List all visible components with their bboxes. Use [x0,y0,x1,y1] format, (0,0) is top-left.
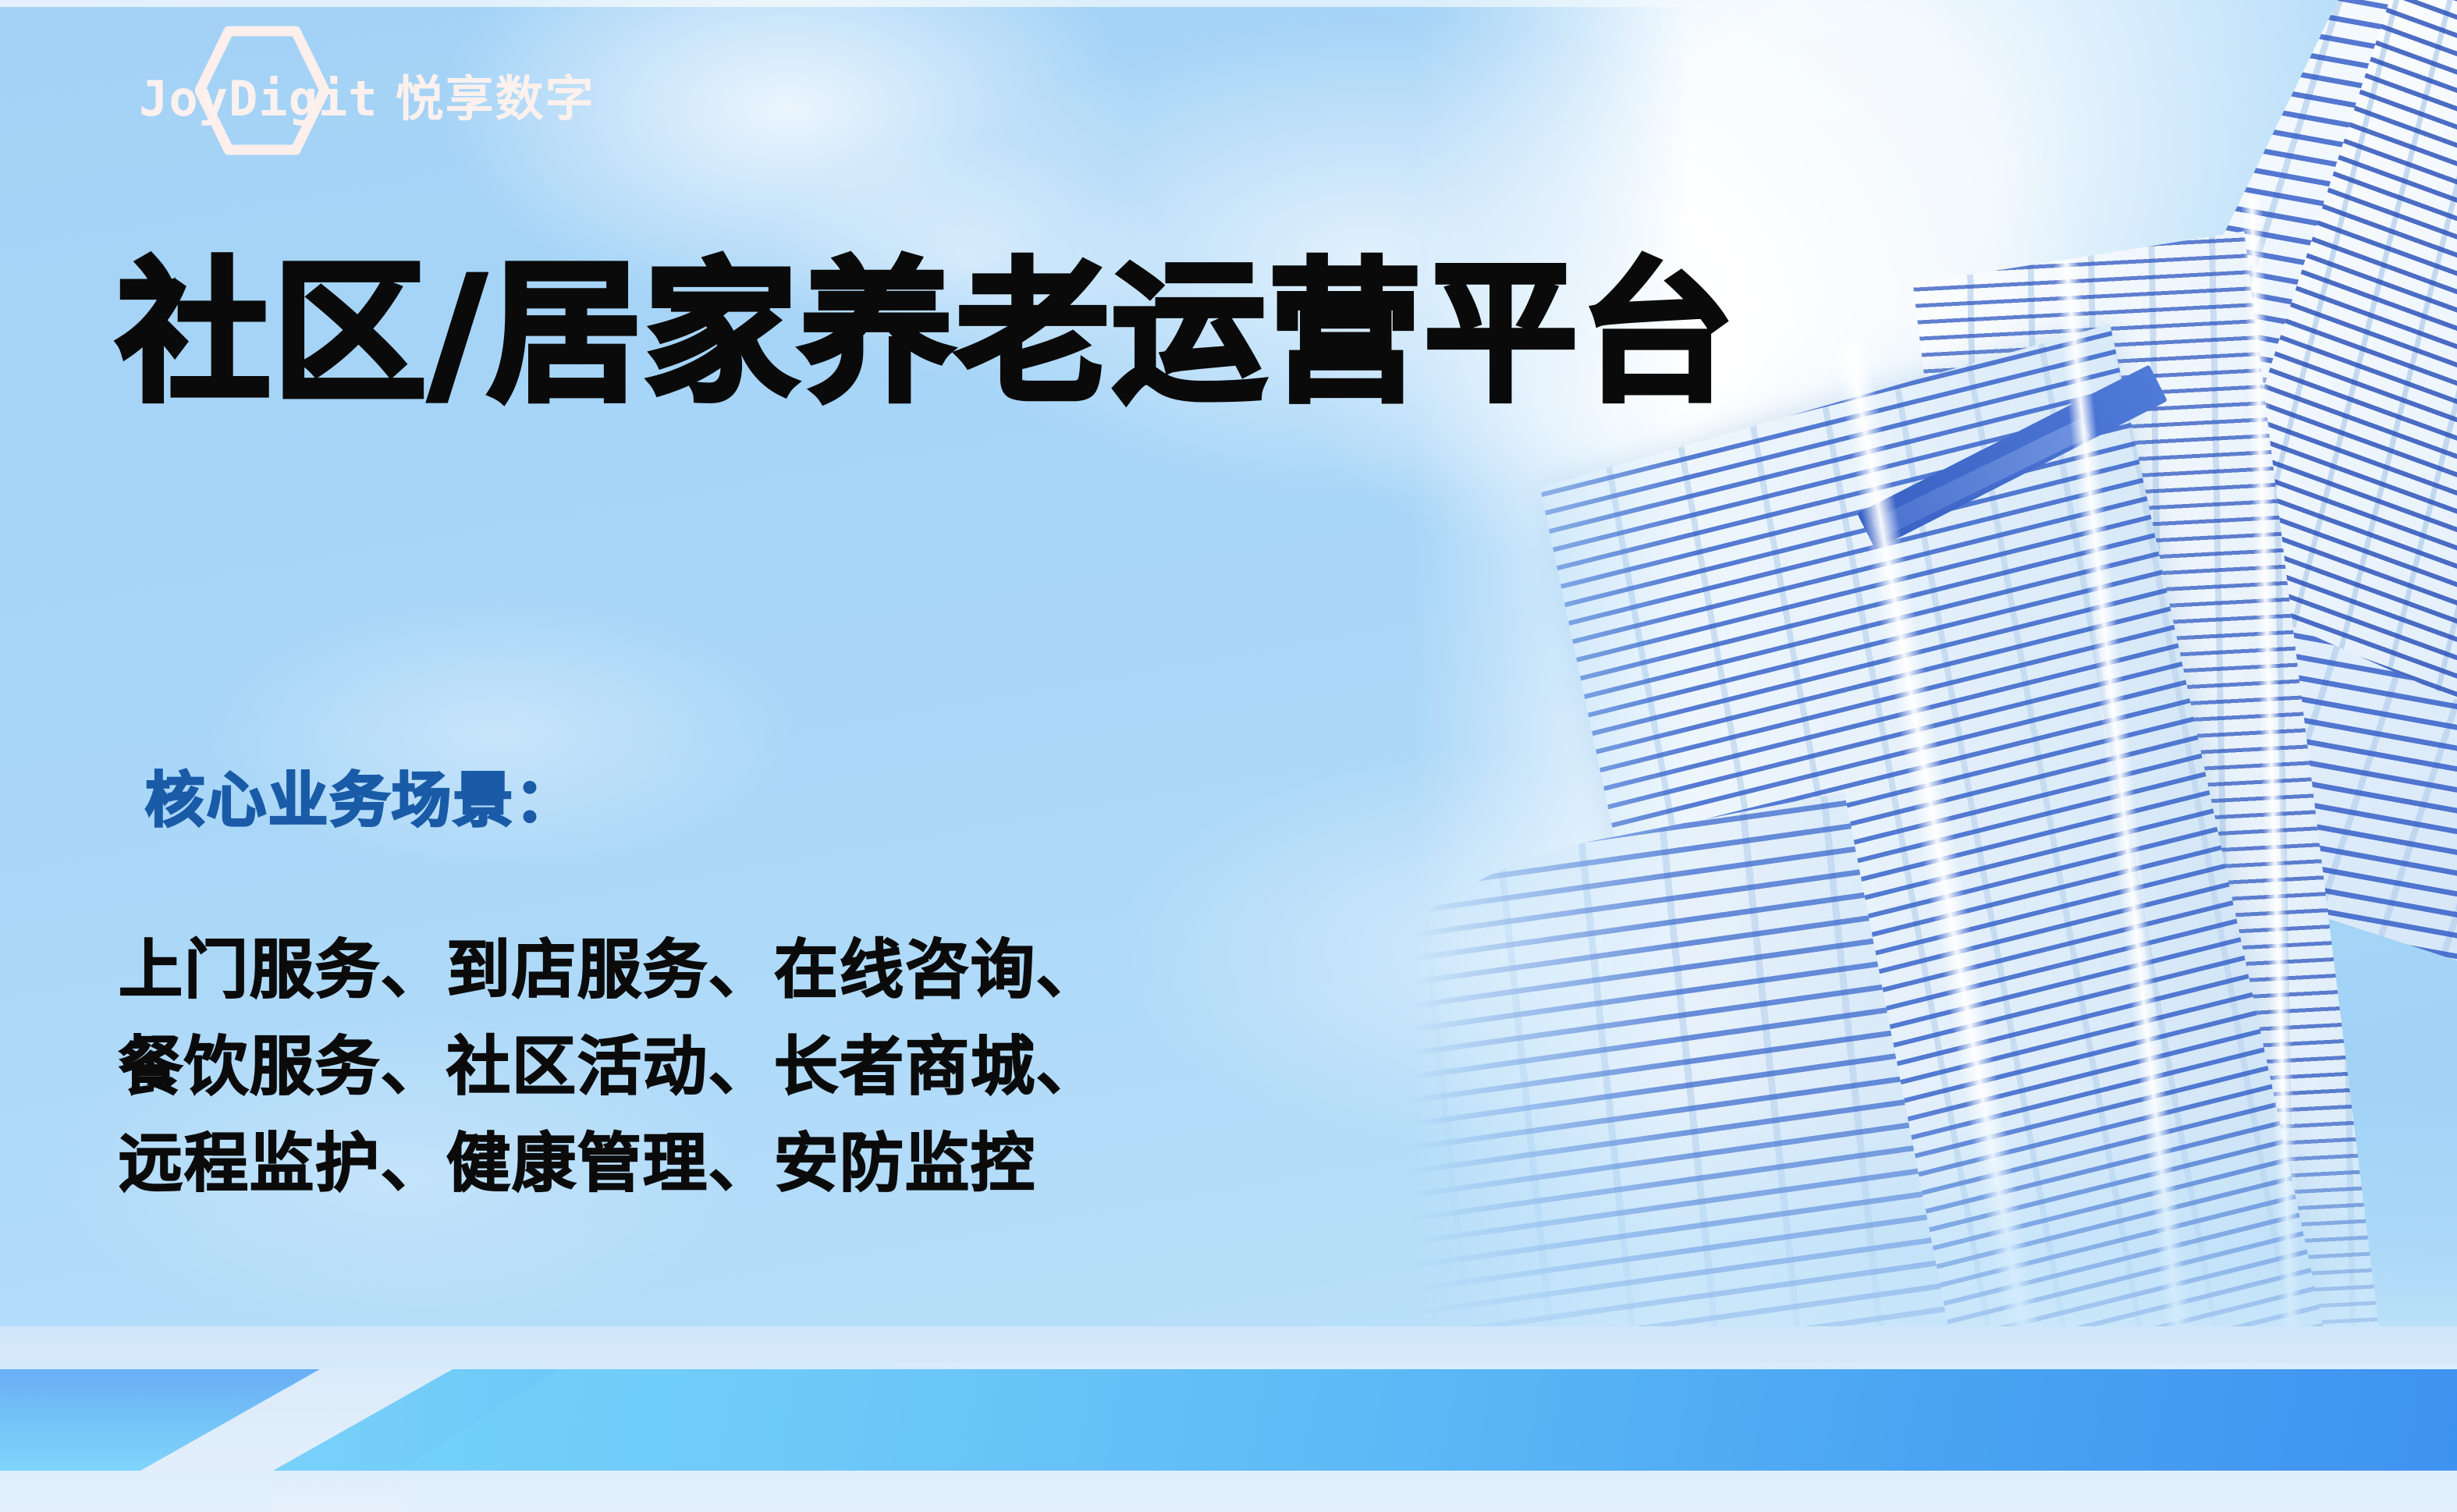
scenario-line: 餐饮服务、社区活动、长者商城、 [119,1019,1492,1116]
scenario-line: 上门服务、到店服务、在线咨询、 [119,922,1492,1019]
skyscrapers-from-below-photo [1411,0,2457,1373]
bottom-band-cyan-wedge [234,1369,2457,1471]
bottom-decoration [0,1326,2457,1512]
slide-root: JoyDigit 悦享数字 社区/居家养老运营平台 核心业务场景： 上门服务、到… [0,0,2457,1512]
brand-logo-cn: 悦享数字 [396,75,595,123]
brand-logo[interactable]: JoyDigit 悦享数字 [139,69,595,130]
scenario-line: 远程监护、健康管理、安防监控 [119,1116,1492,1212]
band-top-hairline [0,1363,2457,1369]
core-scenarios-list: 上门服务、到店服务、在线咨询、 餐饮服务、社区活动、长者商城、 远程监护、健康管… [119,922,1492,1212]
page-title: 社区/居家养老运营平台 [117,257,1737,410]
section-label-core-scenarios: 核心业务场景： [145,771,577,830]
brand-logo-en: JoyDigit [139,75,378,123]
